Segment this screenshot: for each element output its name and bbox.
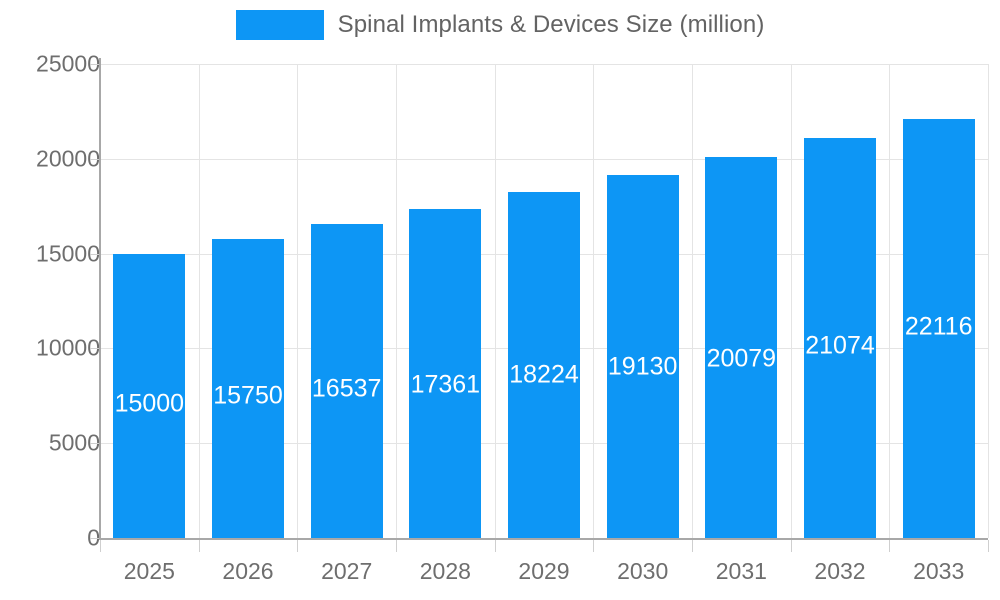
x-axis-tick-label: 2032	[814, 558, 865, 585]
bar[interactable]	[311, 224, 383, 538]
x-axis-tick-label: 2033	[913, 558, 964, 585]
bar[interactable]	[212, 239, 284, 538]
y-axis-tick-label: 5000	[14, 430, 100, 457]
x-gridline	[692, 64, 693, 538]
y-axis-tick-label: 10000	[14, 335, 100, 362]
bar[interactable]	[409, 209, 481, 538]
y-axis-tick-label: 25000	[14, 51, 100, 78]
bar[interactable]	[705, 157, 777, 538]
x-gridline	[396, 64, 397, 538]
plot-area: 1500015750165371736118224191302007921074…	[100, 64, 988, 538]
x-gridline	[791, 64, 792, 538]
x-axis-tick-mark	[593, 540, 594, 552]
x-axis-tick-label: 2028	[420, 558, 471, 585]
x-gridline	[593, 64, 594, 538]
x-axis-tick-mark	[889, 540, 890, 552]
x-axis-tick-label: 2029	[518, 558, 569, 585]
y-axis: 0500010000150002000025000	[0, 0, 100, 600]
y-axis-tick-label: 0	[14, 525, 100, 552]
x-axis-tick-mark	[988, 540, 989, 552]
x-axis-tick-mark	[692, 540, 693, 552]
x-axis-tick-mark	[396, 540, 397, 552]
x-axis-tick-mark	[100, 540, 101, 552]
x-axis-tick-mark	[297, 540, 298, 552]
x-gridline	[199, 64, 200, 538]
x-axis-tick-mark	[791, 540, 792, 552]
x-axis-tick-label: 2025	[124, 558, 175, 585]
y-gridline	[100, 64, 988, 65]
legend-color-swatch	[236, 10, 324, 40]
x-axis-tick-label: 2026	[222, 558, 273, 585]
x-axis-tick-label: 2030	[617, 558, 668, 585]
chart-legend: Spinal Implants & Devices Size (million)	[0, 0, 1000, 50]
x-axis-tick-label: 2027	[321, 558, 372, 585]
x-gridline	[889, 64, 890, 538]
x-axis-tick-mark	[495, 540, 496, 552]
bar[interactable]	[508, 192, 580, 538]
x-gridline	[297, 64, 298, 538]
bar[interactable]	[607, 175, 679, 538]
x-axis-tick-label: 2031	[716, 558, 767, 585]
bar[interactable]	[903, 119, 975, 538]
bar[interactable]	[113, 254, 185, 538]
bar[interactable]	[804, 138, 876, 538]
x-axis-line	[99, 538, 988, 540]
x-axis-tick-mark	[199, 540, 200, 552]
x-gridline	[495, 64, 496, 538]
x-gridline	[988, 64, 989, 538]
y-axis-tick-label: 15000	[14, 240, 100, 267]
y-axis-tick-label: 20000	[14, 145, 100, 172]
y-axis-line	[99, 58, 101, 540]
bar-chart: Spinal Implants & Devices Size (million)…	[0, 0, 1000, 600]
legend-label: Spinal Implants & Devices Size (million)	[338, 11, 765, 39]
